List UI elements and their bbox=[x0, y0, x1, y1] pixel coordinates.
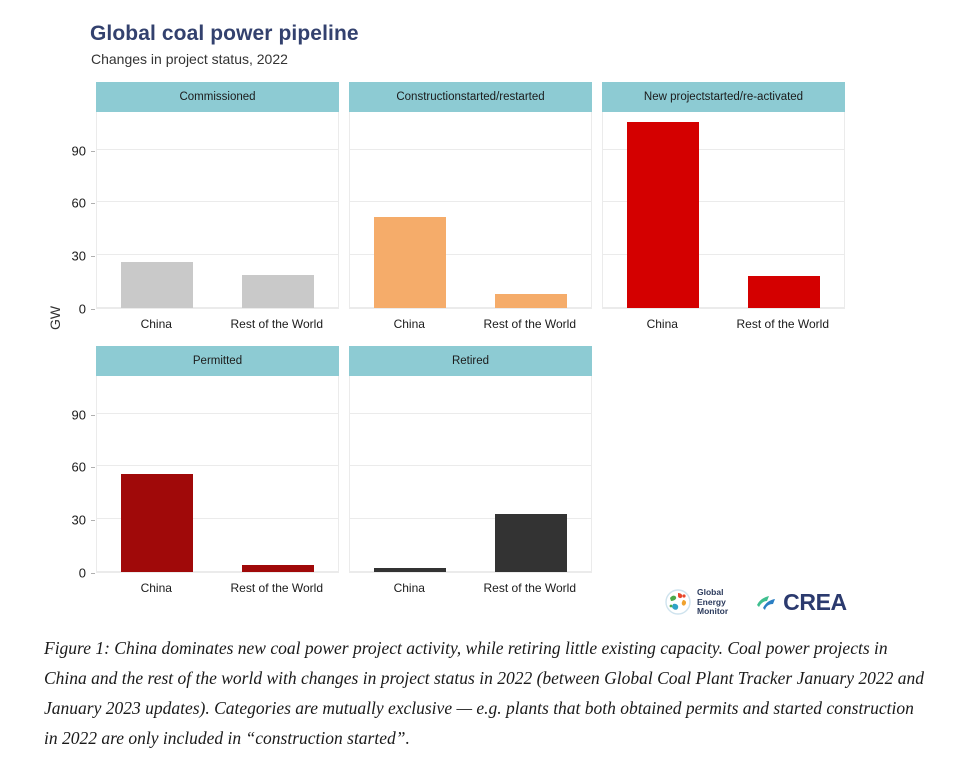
y-tick-label-60: 60 bbox=[54, 460, 86, 475]
bar-china bbox=[121, 262, 193, 308]
facet-retired: RetiredChinaRest of the World bbox=[349, 346, 592, 573]
figure-caption: Figure 1: China dominates new coal power… bbox=[44, 633, 924, 753]
gridline-60 bbox=[97, 201, 338, 202]
plot-area bbox=[349, 112, 592, 309]
plot-area bbox=[602, 112, 845, 309]
facet-commissioned: CommissionedChinaRest of the World bbox=[96, 82, 339, 309]
bar-rest-of-the-world bbox=[495, 294, 567, 308]
chart-subtitle: Changes in project status, 2022 bbox=[91, 51, 288, 67]
gem-wordmark: Global Energy Monitor bbox=[697, 588, 728, 617]
global-energy-monitor-logo: Global Energy Monitor bbox=[665, 588, 728, 617]
y-tick-label-90: 90 bbox=[54, 407, 86, 422]
gridline-60 bbox=[350, 201, 591, 202]
bar-rest-of-the-world bbox=[242, 565, 314, 572]
x-tick bbox=[157, 308, 158, 309]
x-axis-label-china: China bbox=[394, 581, 425, 595]
facet-strip-label: Permitted bbox=[96, 346, 339, 376]
gridline-90 bbox=[350, 413, 591, 414]
gridline-90 bbox=[97, 413, 338, 414]
plot-area bbox=[349, 376, 592, 573]
globe-icon bbox=[665, 589, 691, 615]
x-axis-label-rest-of-the-world: Rest of the World bbox=[484, 581, 576, 595]
bar-rest-of-the-world bbox=[748, 276, 820, 308]
gridline-90 bbox=[97, 149, 338, 150]
y-tick-mark bbox=[91, 309, 95, 310]
y-tick-mark bbox=[91, 573, 95, 574]
x-tick bbox=[278, 308, 279, 309]
y-tick-label-30: 30 bbox=[54, 249, 86, 264]
x-axis-label-china: China bbox=[394, 317, 425, 331]
y-tick-mark bbox=[91, 520, 95, 521]
x-tick bbox=[410, 308, 411, 309]
y-tick-mark bbox=[91, 151, 95, 152]
bar-china bbox=[627, 122, 699, 308]
x-tick bbox=[663, 308, 664, 309]
logo-row: Global Energy Monitor CREA bbox=[665, 588, 847, 617]
y-tick-mark bbox=[91, 256, 95, 257]
crea-mark-icon bbox=[754, 590, 778, 614]
y-tick-mark bbox=[91, 415, 95, 416]
facet-strip-label: Retired bbox=[349, 346, 592, 376]
facet-construction-started-restarted: Constructionstarted/restartedChinaRest o… bbox=[349, 82, 592, 309]
plot-area bbox=[96, 376, 339, 573]
gridline-60 bbox=[97, 465, 338, 466]
facet-strip-label: Constructionstarted/restarted bbox=[349, 82, 592, 112]
x-tick bbox=[531, 572, 532, 573]
bar-china bbox=[374, 217, 446, 308]
gridline-30 bbox=[97, 254, 338, 255]
gridline-60 bbox=[350, 465, 591, 466]
x-axis-label-rest-of-the-world: Rest of the World bbox=[484, 317, 576, 331]
y-tick-label-0: 0 bbox=[54, 566, 86, 581]
facet-strip-label: Commissioned bbox=[96, 82, 339, 112]
gridline-90 bbox=[350, 149, 591, 150]
bar-china bbox=[121, 474, 193, 573]
facet-new-project-started-re-activated: New projectstarted/re-activatedChinaRest… bbox=[602, 82, 845, 309]
bar-rest-of-the-world bbox=[495, 514, 567, 572]
y-tick-mark bbox=[91, 203, 95, 204]
x-tick bbox=[531, 308, 532, 309]
facet-strip-label: New projectstarted/re-activated bbox=[602, 82, 845, 112]
gem-line-3: Monitor bbox=[697, 607, 728, 617]
x-axis-label-rest-of-the-world: Rest of the World bbox=[231, 317, 323, 331]
x-tick bbox=[278, 572, 279, 573]
x-axis-label-rest-of-the-world: Rest of the World bbox=[737, 317, 829, 331]
x-axis-label-china: China bbox=[141, 581, 172, 595]
x-tick bbox=[784, 308, 785, 309]
y-tick-label-0: 0 bbox=[54, 302, 86, 317]
x-tick bbox=[157, 572, 158, 573]
crea-wordmark: CREA bbox=[783, 589, 847, 616]
plot-area bbox=[96, 112, 339, 309]
x-axis-label-china: China bbox=[141, 317, 172, 331]
y-tick-mark bbox=[91, 467, 95, 468]
y-tick-label-60: 60 bbox=[54, 196, 86, 211]
x-axis-label-china: China bbox=[647, 317, 678, 331]
page-title: Global coal power pipeline bbox=[90, 22, 359, 46]
x-axis-label-rest-of-the-world: Rest of the World bbox=[231, 581, 323, 595]
bar-rest-of-the-world bbox=[242, 275, 314, 308]
y-tick-label-90: 90 bbox=[54, 143, 86, 158]
facet-permitted: PermittedChinaRest of the World bbox=[96, 346, 339, 573]
crea-logo: CREA bbox=[754, 589, 847, 616]
figure-container: Global coal power pipeline Changes in pr… bbox=[0, 0, 968, 782]
x-tick bbox=[410, 572, 411, 573]
y-tick-label-30: 30 bbox=[54, 513, 86, 528]
